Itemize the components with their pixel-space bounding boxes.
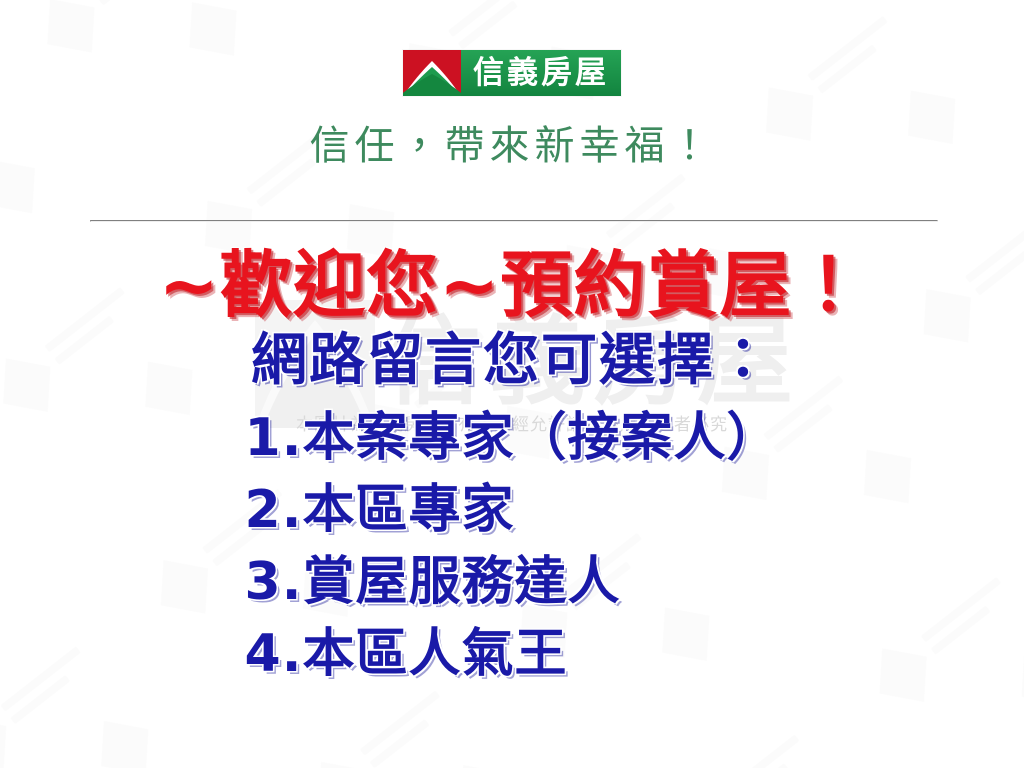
list-item: 2.本區專家 [245, 474, 780, 546]
header-divider [90, 220, 938, 222]
list-item: 1.本案專家（接案人） [245, 402, 780, 474]
sinyi-mountain-mark-icon [403, 50, 461, 96]
option-label: 本案專家（接案人） [302, 408, 779, 468]
poster-canvas: 信義房屋 信義房屋 信任，帶來新幸福！ 本圖片為信義房屋所有，未經允許請勿盜用，… [0, 0, 1024, 768]
option-number: 1. [245, 408, 303, 468]
poster-content: ~歡迎您~預約賞屋！ 網路留言您可選擇： 1.本案專家（接案人） 2.本區專家 … [0, 246, 1024, 690]
brand-header: 信義房屋 信任，帶來新幸福！ [0, 0, 1024, 170]
option-label: 本區專家 [302, 480, 514, 540]
list-item: 3.賞屋服務達人 [245, 546, 780, 618]
subheadline: 網路留言您可選擇： [0, 330, 1024, 392]
brand-wordmark-label: 信義房屋 [473, 56, 609, 90]
list-item: 4.本區人氣王 [245, 618, 780, 690]
brand-logo-lockup: 信義房屋 [403, 50, 621, 96]
option-label: 賞屋服務達人 [302, 552, 620, 612]
brand-tagline: 信任，帶來新幸福！ [0, 122, 1024, 170]
option-number: 4. [245, 624, 303, 684]
headline: ~歡迎您~預約賞屋！ [0, 246, 1024, 324]
option-number: 3. [245, 552, 303, 612]
option-label: 本區人氣王 [302, 624, 567, 684]
option-number: 2. [245, 480, 303, 540]
contact-options-list: 1.本案專家（接案人） 2.本區專家 3.賞屋服務達人 4.本區人氣王 [245, 402, 780, 690]
brand-wordmark: 信義房屋 [461, 50, 621, 96]
